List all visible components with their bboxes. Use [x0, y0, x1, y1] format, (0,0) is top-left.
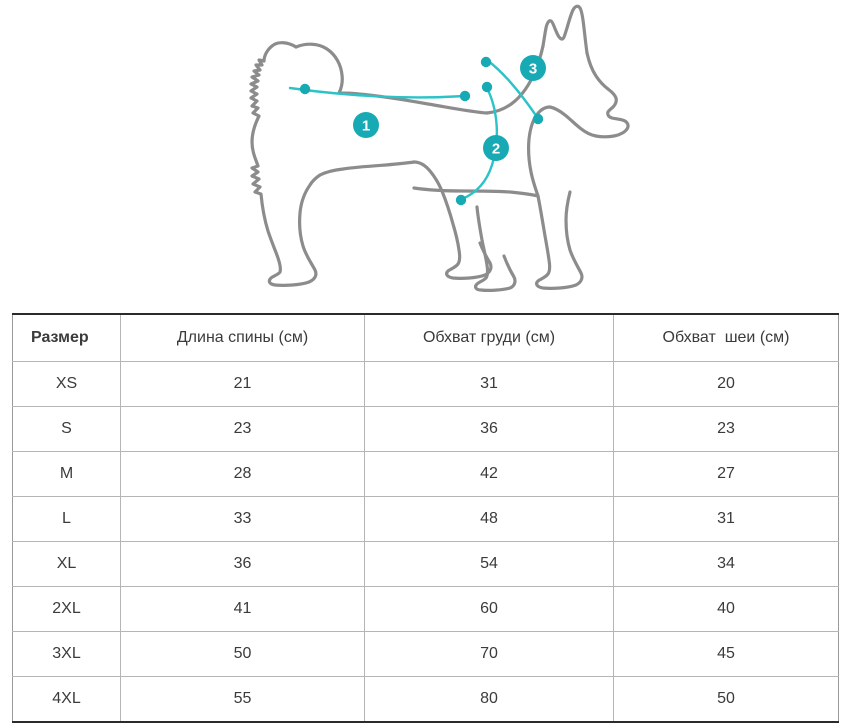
column-header-size: Размер [13, 314, 121, 362]
badge-3-label: 3 [529, 61, 537, 78]
cell-chest-girth: 70 [365, 632, 614, 677]
table-row: L 33 48 31 [13, 497, 839, 542]
table-header-row: Размер Длина спины (см) Обхват груди (см… [13, 314, 839, 362]
cell-size: 4XL [13, 677, 121, 723]
cell-neck-girth: 31 [614, 497, 839, 542]
cell-back-length: 23 [121, 407, 365, 452]
measure-dot-back-end [460, 91, 470, 101]
dog-outline-icon [251, 6, 628, 290]
cell-neck-girth: 27 [614, 452, 839, 497]
measure-dot-neck-bottom [533, 114, 543, 124]
cell-back-length: 55 [121, 677, 365, 723]
measure-dot-neck-top [481, 57, 491, 67]
cell-neck-girth: 23 [614, 407, 839, 452]
cell-neck-girth: 40 [614, 587, 839, 632]
badge-3: 3 [520, 55, 546, 81]
cell-chest-girth: 54 [365, 542, 614, 587]
size-table-header: Размер Длина спины (см) Обхват груди (см… [13, 314, 839, 362]
cell-size: L [13, 497, 121, 542]
badge-2: 2 [483, 135, 509, 161]
cell-chest-girth: 80 [365, 677, 614, 723]
cell-chest-girth: 31 [365, 362, 614, 407]
dog-measurement-diagram: 1 2 3 [0, 0, 850, 300]
measure-dot-chest-top [482, 82, 492, 92]
column-header-neck-girth: Обхват шеи (см) [614, 314, 839, 362]
table-row: 2XL 41 60 40 [13, 587, 839, 632]
table-row: XL 36 54 34 [13, 542, 839, 587]
table-row: XS 21 31 20 [13, 362, 839, 407]
cell-neck-girth: 34 [614, 542, 839, 587]
measure-dot-chest-bottom [456, 195, 466, 205]
cell-size: 2XL [13, 587, 121, 632]
cell-back-length: 33 [121, 497, 365, 542]
cell-chest-girth: 42 [365, 452, 614, 497]
column-header-chest-girth: Обхват груди (см) [365, 314, 614, 362]
table-row: 4XL 55 80 50 [13, 677, 839, 723]
cell-size: XL [13, 542, 121, 587]
cell-back-length: 28 [121, 452, 365, 497]
size-chart-page: 1 2 3 Размер Длина спины (см) Обхват гру… [0, 0, 850, 728]
badge-1-label: 1 [362, 118, 370, 135]
cell-chest-girth: 48 [365, 497, 614, 542]
cell-size: S [13, 407, 121, 452]
measure-line-back-length [290, 88, 465, 97]
table-row: S 23 36 23 [13, 407, 839, 452]
table-row: M 28 42 27 [13, 452, 839, 497]
cell-size: 3XL [13, 632, 121, 677]
cell-size: XS [13, 362, 121, 407]
badge-2-label: 2 [492, 141, 500, 158]
cell-chest-girth: 36 [365, 407, 614, 452]
cell-chest-girth: 60 [365, 587, 614, 632]
badge-1: 1 [353, 112, 379, 138]
cell-back-length: 36 [121, 542, 365, 587]
cell-size: M [13, 452, 121, 497]
column-header-back-length: Длина спины (см) [121, 314, 365, 362]
size-table-container: Размер Длина спины (см) Обхват груди (см… [12, 313, 838, 723]
cell-back-length: 21 [121, 362, 365, 407]
size-table: Размер Длина спины (см) Обхват груди (см… [12, 313, 839, 723]
size-table-body: XS 21 31 20 S 23 36 23 M 28 42 27 [13, 362, 839, 723]
cell-neck-girth: 20 [614, 362, 839, 407]
measure-dot-back-start [300, 84, 310, 94]
cell-back-length: 41 [121, 587, 365, 632]
table-row: 3XL 50 70 45 [13, 632, 839, 677]
cell-back-length: 50 [121, 632, 365, 677]
cell-neck-girth: 50 [614, 677, 839, 723]
cell-neck-girth: 45 [614, 632, 839, 677]
